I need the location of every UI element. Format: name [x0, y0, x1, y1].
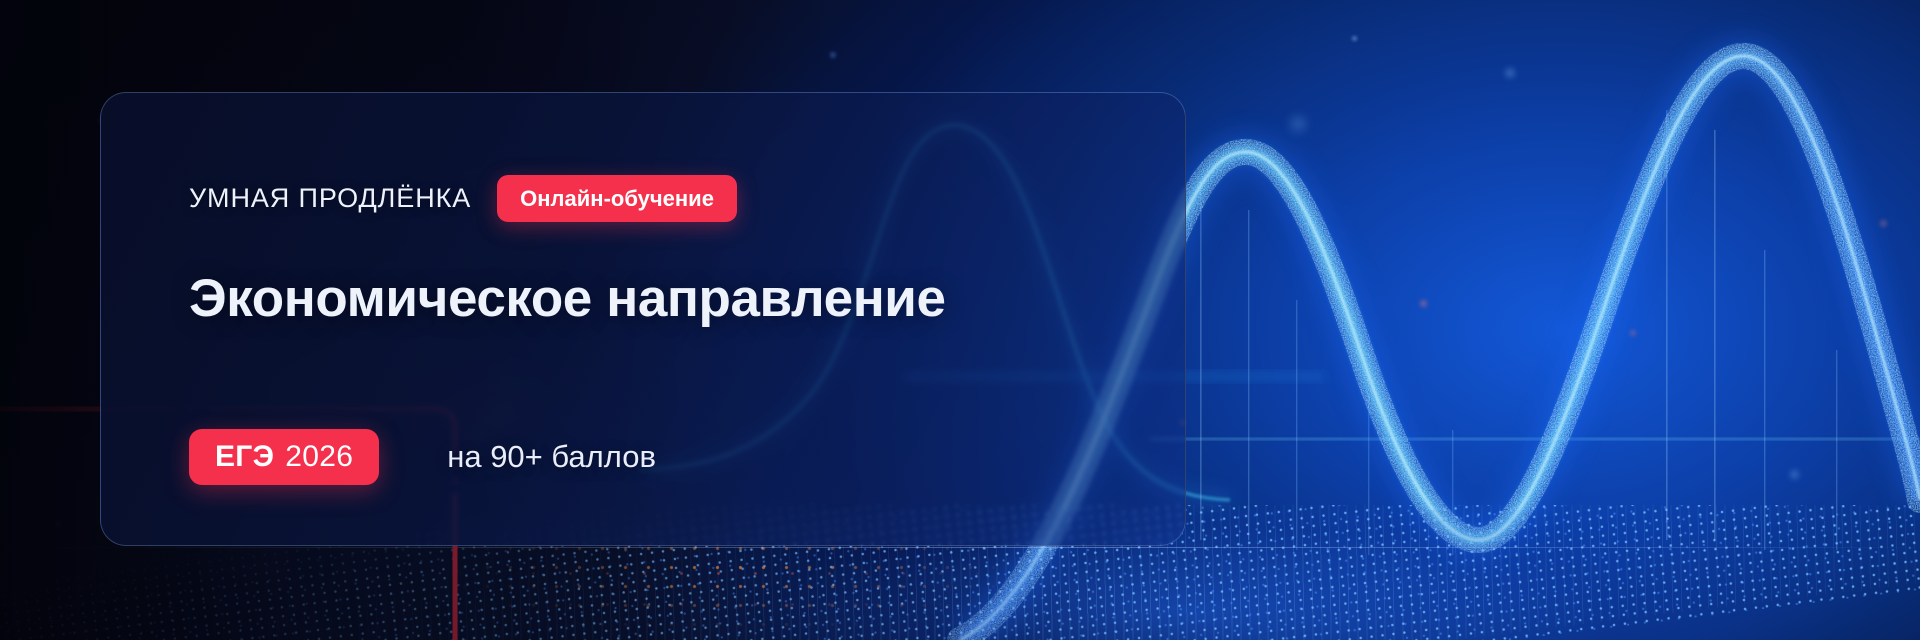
- score-subtitle: на 90+ баллов: [447, 439, 656, 475]
- eyebrow-label: УМНАЯ ПРОДЛЁНКА: [189, 183, 471, 214]
- eyebrow-row: УМНАЯ ПРОДЛЁНКА Онлайн-обучение: [189, 175, 737, 222]
- content-card: УМНАЯ ПРОДЛЁНКА Онлайн-обучение Экономич…: [100, 92, 1186, 546]
- promo-banner: УМНАЯ ПРОДЛЁНКА Онлайн-обучение Экономич…: [0, 0, 1920, 640]
- page-title: Экономическое направление: [189, 268, 946, 329]
- bottom-row: ЕГЭ 2026 на 90+ баллов: [189, 429, 656, 485]
- exam-badge-year: 2026: [285, 429, 353, 485]
- exam-badge-label: ЕГЭ: [215, 429, 274, 485]
- exam-badge: ЕГЭ 2026: [189, 429, 379, 485]
- online-learning-badge: Онлайн-обучение: [497, 175, 737, 222]
